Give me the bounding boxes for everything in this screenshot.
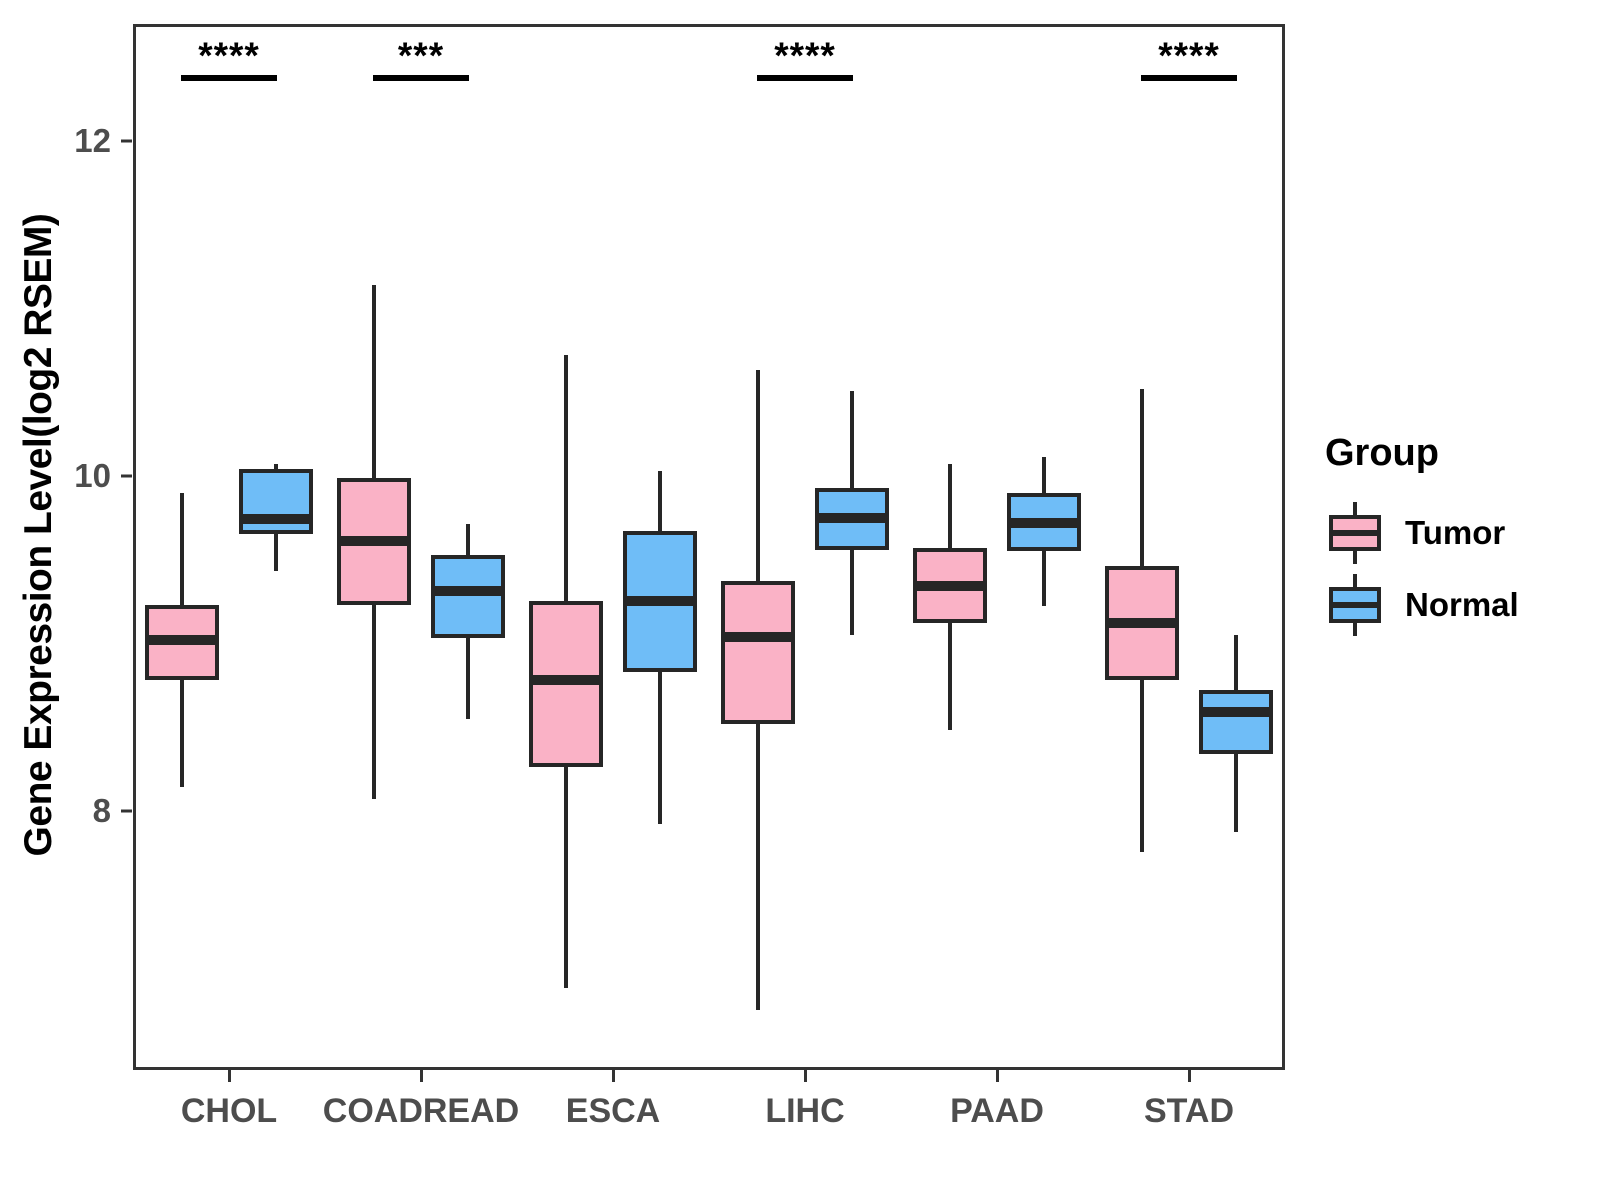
whisker-lower	[372, 605, 376, 799]
y-axis-tick-mark	[121, 140, 132, 143]
whisker-lower	[756, 724, 760, 1010]
significance-label: ****	[774, 37, 836, 74]
box-iqr	[721, 581, 795, 723]
y-axis-tick-label: 8	[93, 792, 111, 830]
box-iqr	[239, 469, 313, 534]
box-iqr	[1199, 690, 1273, 754]
whisker-lower	[466, 638, 470, 718]
median-line	[239, 514, 313, 524]
x-axis-tick-mark	[1188, 1070, 1191, 1082]
legend-label: Tumor	[1405, 514, 1505, 552]
whisker-upper	[180, 493, 184, 605]
significance-label: ****	[1158, 37, 1220, 74]
x-axis-tick-mark	[228, 1070, 231, 1082]
y-axis-tick-label: 12	[74, 122, 111, 160]
legend-entries: TumorNormal	[1325, 497, 1585, 641]
whisker-lower	[180, 680, 184, 787]
y-axis-tick-mark	[121, 474, 132, 477]
whisker-upper	[1234, 635, 1238, 690]
x-axis-tick-label: ESCA	[566, 1092, 660, 1131]
median-line	[815, 513, 889, 523]
x-axis-tick-mark	[420, 1070, 423, 1082]
whisker-upper	[756, 370, 760, 581]
legend-item-tumor[interactable]: Tumor	[1325, 497, 1585, 569]
median-line	[721, 632, 795, 642]
median-line	[529, 675, 603, 685]
whisker-lower	[1140, 680, 1144, 852]
legend-key-swatch	[1325, 502, 1385, 564]
y-axis-label: Gene Expression Level(log2 RSEM)	[8, 0, 70, 1070]
x-axis-tick-label: STAD	[1144, 1092, 1234, 1131]
legend-median-line	[1329, 530, 1381, 536]
x-axis-tick-label: LIHC	[765, 1092, 844, 1131]
legend-median-line	[1329, 602, 1381, 608]
legend-label: Normal	[1405, 586, 1519, 624]
x-axis-tick-label: CHOL	[181, 1092, 277, 1131]
plot-area	[133, 24, 1285, 1070]
legend: Group TumorNormal	[1325, 432, 1585, 641]
median-line	[431, 586, 505, 596]
median-line	[145, 635, 219, 645]
whisker-lower	[850, 550, 854, 635]
whisker-lower	[948, 623, 952, 730]
y-axis-tick-label: 10	[74, 457, 111, 495]
whisker-lower	[1042, 551, 1046, 606]
median-line	[337, 536, 411, 546]
whisker-lower	[564, 767, 568, 988]
chart-root: Gene Expression Level(log2 RSEM) 81012 *…	[0, 0, 1600, 1200]
x-axis-tick-mark	[804, 1070, 807, 1082]
whisker-upper	[1140, 389, 1144, 566]
median-line	[1199, 707, 1273, 717]
whisker-upper	[850, 391, 854, 488]
whisker-upper	[372, 285, 376, 477]
median-line	[623, 596, 697, 606]
whisker-lower	[274, 534, 278, 571]
significance-label: ***	[398, 37, 444, 74]
y-axis-tick-mark	[121, 809, 132, 812]
x-axis-tick-label: PAAD	[950, 1092, 1044, 1131]
significance-label: ****	[198, 37, 260, 74]
median-line	[1007, 518, 1081, 528]
whisker-upper	[1042, 457, 1046, 492]
legend-key-swatch	[1325, 574, 1385, 636]
whisker-upper	[948, 464, 952, 548]
x-axis-tick-mark	[996, 1070, 999, 1082]
whisker-upper	[564, 355, 568, 601]
legend-item-normal[interactable]: Normal	[1325, 569, 1585, 641]
x-axis-tick-label: COADREAD	[323, 1092, 519, 1131]
x-axis-tick-mark	[612, 1070, 615, 1082]
whisker-lower	[658, 672, 662, 824]
whisker-upper	[466, 524, 470, 554]
median-line	[1105, 618, 1179, 628]
whisker-lower	[1234, 754, 1238, 833]
median-line	[913, 581, 987, 591]
legend-title: Group	[1325, 432, 1585, 475]
whisker-upper	[658, 471, 662, 531]
box-iqr	[431, 555, 505, 639]
